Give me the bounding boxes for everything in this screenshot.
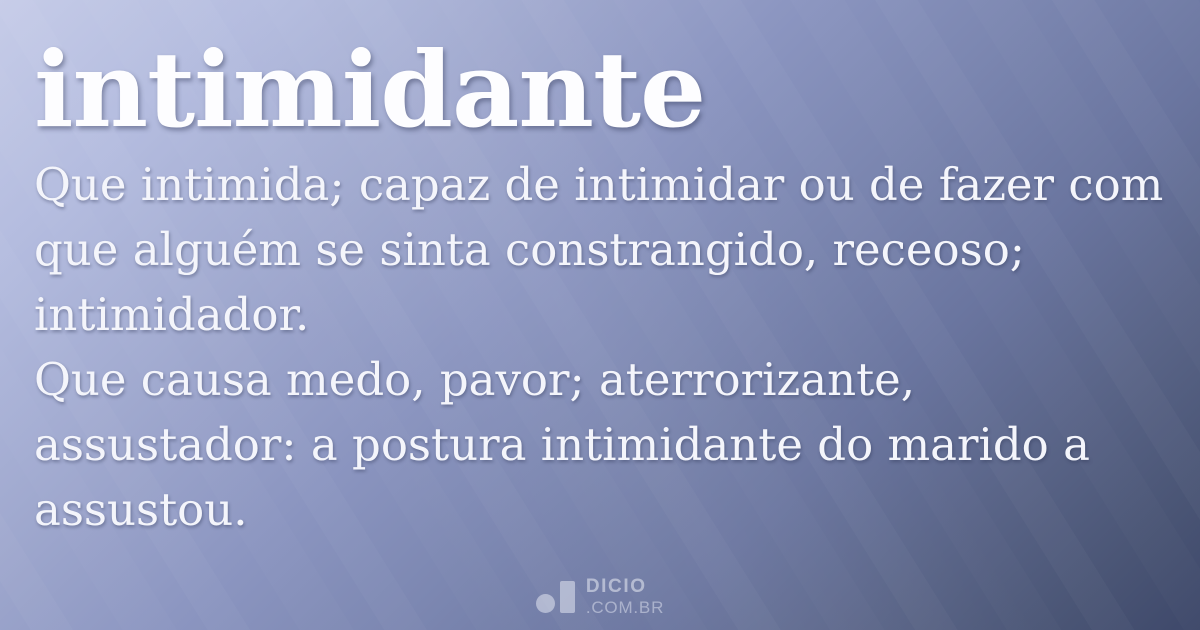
- logo-tld: .COM.BR: [586, 599, 664, 616]
- definition-entry: Que intimida; capaz de intimidar ou de f…: [34, 152, 1166, 347]
- page-title: intimidante: [34, 0, 1166, 142]
- rounded-bar-icon: [560, 581, 575, 613]
- definition-entry: Que causa medo, pavor; aterrorizante, as…: [34, 347, 1166, 542]
- logo-mark: [536, 581, 575, 613]
- dictionary-share-card: intimidante Que intimida; capaz de intim…: [0, 0, 1200, 630]
- logo-name: DICIO: [586, 577, 664, 596]
- logo-wordmark: DICIO .COM.BR: [586, 577, 664, 616]
- site-logo[interactable]: DICIO .COM.BR: [0, 577, 1200, 616]
- card-content: intimidante Que intimida; capaz de intim…: [0, 0, 1200, 630]
- definition-list: Que intimida; capaz de intimidar ou de f…: [34, 152, 1166, 542]
- circle-icon: [536, 594, 555, 613]
